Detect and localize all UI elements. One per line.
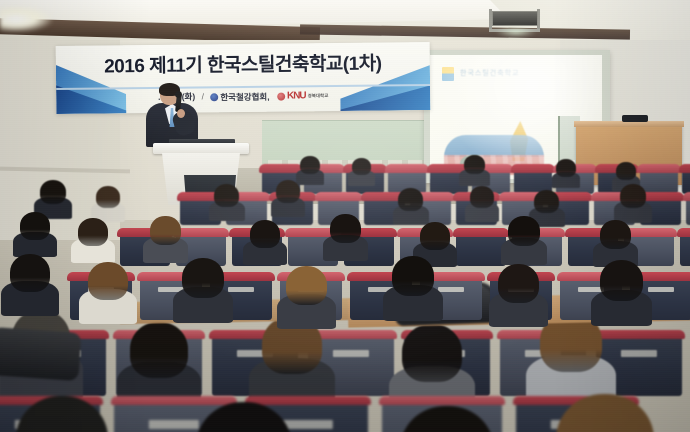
seated-attendee bbox=[150, 216, 181, 245]
lecture-hall-photograph: 한국스틸건축학교 2016 제11기 한국스틸건축학교(1차) .10.25(화… bbox=[0, 0, 690, 432]
steel-association-name: 한국철강협회, bbox=[220, 90, 269, 103]
presenter bbox=[146, 84, 200, 146]
seated-attendee bbox=[196, 402, 292, 432]
attendee-head bbox=[250, 220, 280, 248]
seated-attendee bbox=[88, 262, 128, 300]
seated-attendee bbox=[250, 220, 280, 248]
attendee-head bbox=[20, 212, 50, 240]
event-banner: 2016 제11기 한국스틸건축학교(1차) .10.25(화) / 한국철강협… bbox=[56, 42, 431, 114]
attendee-head bbox=[392, 256, 434, 296]
auditorium-seat bbox=[680, 232, 690, 266]
knu-mark: KNU bbox=[287, 91, 306, 102]
steel-association-emblem-icon bbox=[210, 93, 218, 101]
seated-attendee bbox=[556, 394, 654, 432]
steel-association-org: 한국철강협회, bbox=[210, 90, 269, 103]
seated-attendee bbox=[600, 220, 631, 249]
knu-university-emblem-icon bbox=[277, 92, 285, 100]
presenter-hand bbox=[177, 109, 185, 118]
seating-area bbox=[0, 150, 690, 432]
console-device-icon bbox=[622, 115, 648, 122]
seated-attendee bbox=[20, 212, 50, 240]
banner-title: 2016 제11기 한국스틸건축학교(1차) bbox=[56, 48, 430, 79]
banner-separator: / bbox=[201, 91, 203, 101]
attendee-head bbox=[88, 262, 128, 300]
seated-attendee bbox=[498, 264, 539, 303]
seat-number-tag bbox=[149, 420, 199, 429]
seated-attendee bbox=[16, 396, 108, 432]
seated-attendee bbox=[10, 254, 50, 292]
seated-attendee bbox=[392, 256, 434, 296]
seated-attendee bbox=[400, 406, 494, 432]
attendee-head bbox=[330, 214, 361, 243]
attendee-head bbox=[10, 254, 50, 292]
attendee-head bbox=[78, 218, 108, 246]
seated-attendee bbox=[286, 266, 327, 305]
seated-attendee bbox=[600, 260, 643, 301]
seated-attendee bbox=[182, 258, 224, 298]
attendee-head bbox=[182, 258, 224, 298]
seated-attendee bbox=[508, 216, 540, 246]
attendee-head bbox=[196, 402, 292, 432]
attendee-head bbox=[420, 222, 450, 250]
seated-attendee bbox=[420, 222, 450, 250]
attendee-head bbox=[600, 220, 631, 249]
ceiling-light bbox=[0, 6, 52, 32]
knu-org: KNU 경북대학교 bbox=[277, 90, 328, 102]
microphone-head-icon bbox=[175, 91, 182, 98]
attendee-head bbox=[498, 264, 539, 303]
attendee-head bbox=[508, 216, 540, 246]
ceiling-projector-icon bbox=[487, 9, 549, 31]
seated-attendee bbox=[330, 214, 361, 243]
attendee-head bbox=[556, 394, 654, 432]
attendee-head bbox=[286, 266, 327, 305]
slide-title: 한국스틸건축학교 bbox=[460, 68, 586, 78]
attendee-head bbox=[150, 216, 181, 245]
auditorium-seat bbox=[456, 232, 506, 266]
seat-number-tag bbox=[438, 287, 464, 292]
attendee-head bbox=[16, 396, 108, 432]
seated-attendee bbox=[78, 218, 108, 246]
seat-number-tag bbox=[228, 287, 254, 292]
attendee-head bbox=[400, 406, 494, 432]
seat-number-tag bbox=[648, 287, 674, 292]
slide-logo-icon bbox=[442, 67, 454, 81]
attendee-head bbox=[600, 260, 643, 301]
foreground-bag bbox=[0, 327, 82, 381]
knu-name: 경북대학교 bbox=[308, 93, 329, 99]
